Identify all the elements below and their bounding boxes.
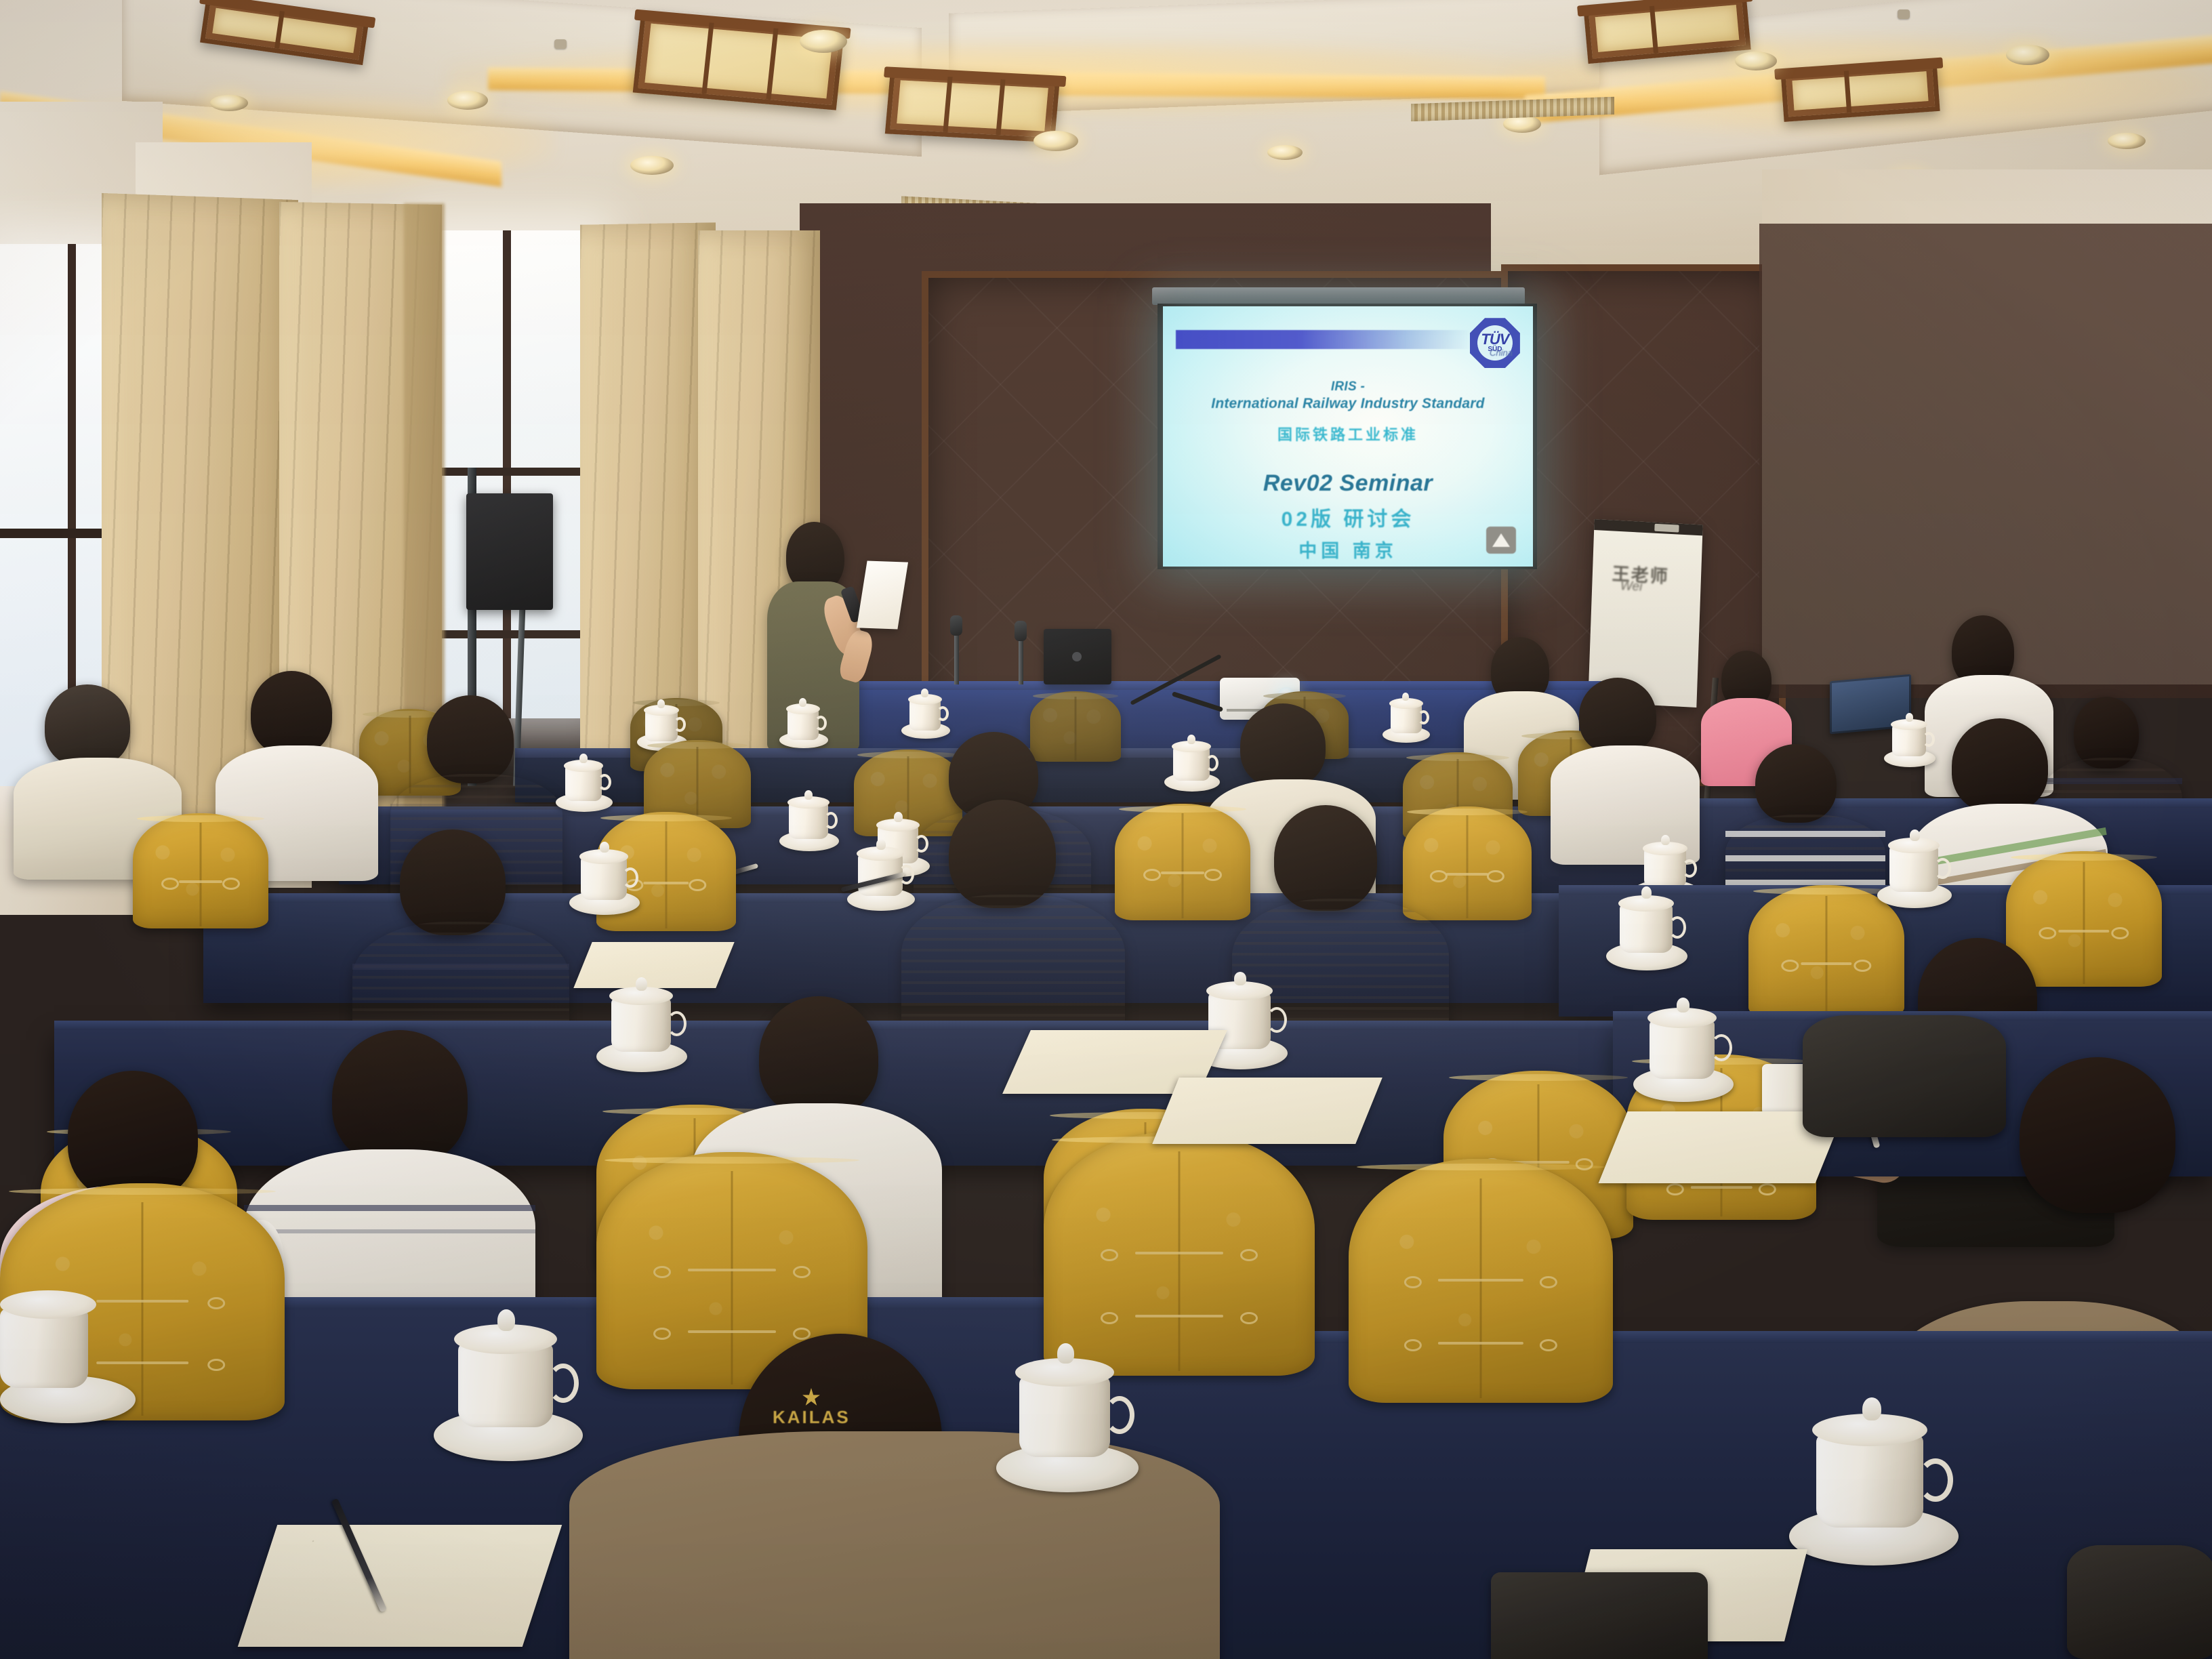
chair-cover (1349, 1159, 1613, 1403)
frog-knot (1691, 1186, 1753, 1189)
chair-seam (1075, 697, 1077, 760)
wooden-lantern-light (885, 69, 1060, 143)
teacup-knob (600, 842, 609, 853)
shirt-stripe (244, 1229, 535, 1233)
chair-frog-button (1430, 870, 1504, 878)
shirt-stripe (2040, 778, 2182, 784)
frog-knot (2059, 930, 2110, 933)
attendee-head (1755, 744, 1837, 823)
frog-knot (1135, 1315, 1223, 1317)
teacup (1816, 1433, 1923, 1528)
chair-cover (1044, 1132, 1315, 1376)
shirt-stripe (390, 804, 562, 810)
chair-frog-button (653, 1266, 811, 1274)
chair-seam (731, 1171, 733, 1385)
notepad (1152, 1078, 1382, 1144)
kailas-brand-text: KAILAS (773, 1407, 851, 1428)
teacup-knob (1661, 835, 1670, 845)
tuv-logo-caption: China (1490, 348, 1513, 358)
attendee-head (68, 1071, 198, 1201)
slide-body: IRIS - International Railway Industry St… (1163, 380, 1533, 562)
microphone-head (1015, 621, 1027, 641)
attendee-head (1274, 805, 1377, 911)
teacup-handle (1918, 1458, 1953, 1502)
frog-knot (1438, 1279, 1524, 1282)
slide-title-cn: 国际铁路工业标准 (1163, 423, 1533, 445)
slide-subtitle-cn: 02版 研讨会 (1163, 502, 1533, 532)
screen-roller-housing (1152, 287, 1525, 305)
teacup-knob (876, 839, 886, 850)
chair-seam (2083, 862, 2085, 984)
shirt-stripe (244, 1205, 535, 1211)
teacup-knob (804, 790, 813, 800)
notepad (573, 942, 734, 988)
tuv-sud-logo: TÜV SÜD (1470, 318, 1520, 368)
recessed-downlight (630, 156, 674, 175)
chair-frog-button (653, 1328, 811, 1336)
teacup-knob (1057, 1343, 1074, 1364)
attendee-head (45, 684, 130, 767)
teacup-handle (1711, 1034, 1732, 1061)
slide-title-en-line1: IRIS - (1163, 380, 1533, 394)
teacup-knob (1910, 829, 1920, 841)
chair-frog-button (1781, 960, 1871, 968)
teacup-handle (598, 774, 611, 790)
slide-location-cn: 中国 南京 (1163, 536, 1533, 562)
chair-seam (665, 821, 668, 928)
chair-seam (1826, 896, 1828, 1015)
chair-seam (1182, 813, 1184, 918)
frog-knot (1801, 962, 1852, 965)
chair-cover (2006, 851, 2162, 987)
teacup-handle (815, 716, 827, 731)
shirt-stripe (352, 964, 569, 970)
teacup-handle (1668, 916, 1686, 939)
window-mullion (0, 529, 115, 538)
attendee-head (427, 695, 514, 783)
teacup-lid (0, 1290, 96, 1319)
chair-cover (133, 813, 268, 928)
chair-frog-button (1143, 869, 1222, 877)
conference-room-photo: TÜV SÜD China IRIS - International Railw… (0, 0, 2212, 1659)
teacup-handle (667, 1011, 687, 1036)
recessed-downlight (2108, 133, 2146, 149)
chair-seam (1467, 815, 1469, 918)
notepad-logo: · (310, 1537, 316, 1545)
recessed-downlight (210, 95, 248, 111)
attendee-head (400, 829, 506, 935)
teacup-handle (1267, 1007, 1287, 1033)
teacup-knob (1677, 998, 1689, 1012)
teacup-knob (1234, 972, 1246, 985)
teacup (611, 998, 671, 1052)
chair-seam (142, 1202, 144, 1416)
slide-subtitle-en: Rev02 Seminar (1163, 470, 1533, 497)
attendee-head (251, 671, 332, 755)
flipchart-handwriting-line2: Wei (1620, 579, 1643, 595)
chair-frog-button (1101, 1312, 1258, 1320)
frog-knot (1438, 1342, 1524, 1345)
frog-knot (688, 1330, 776, 1333)
teacup-handle (1923, 732, 1935, 747)
attendee-head (1240, 703, 1326, 787)
attendee-head (2020, 1057, 2175, 1213)
attendee-head (1579, 678, 1656, 754)
teacup-handle (1418, 710, 1429, 724)
projection-screen: TÜV SÜD China IRIS - International Railw… (1163, 306, 1533, 567)
teacup (1650, 1019, 1715, 1079)
shoulder-bag (1803, 1015, 2006, 1137)
teacup-handle (824, 812, 838, 829)
chair-cover (1030, 691, 1121, 762)
teacup-handle (1682, 859, 1697, 878)
teacup-handle (622, 867, 638, 888)
laptop-logo (1072, 652, 1082, 661)
teacup-knob (799, 698, 806, 707)
teacup-knob (1402, 693, 1409, 701)
shirt-stripe (1725, 831, 1885, 837)
recessed-downlight (2006, 45, 2049, 65)
chair-frog-button (1404, 1339, 1557, 1347)
chair-cover (1403, 806, 1532, 920)
teacup-handle (914, 835, 928, 853)
teacup (458, 1342, 553, 1427)
teacup-knob (657, 699, 665, 708)
notepad: · (238, 1525, 562, 1647)
window-mullion (427, 630, 596, 638)
lantern-pane (897, 80, 1048, 131)
teacup-handle (674, 717, 686, 732)
chair-seam (1480, 1179, 1482, 1398)
teacup-knob (579, 754, 588, 763)
attendee-head (332, 1030, 468, 1166)
chair-seam (200, 823, 202, 926)
triangle-glyph (1492, 533, 1510, 547)
tuv-mark: TÜV (1481, 333, 1509, 346)
teacup-handle (1105, 1396, 1134, 1434)
chair-cover (1748, 885, 1904, 1018)
frog-knot (179, 880, 223, 883)
chair-frog-button (1666, 1183, 1776, 1191)
chair-frog-button (1101, 1249, 1258, 1257)
mountain-triangle-icon (1486, 527, 1516, 554)
frog-knot (688, 1269, 776, 1271)
sprinkler-head (554, 39, 567, 49)
pa-speaker (466, 493, 553, 610)
recessed-downlight (800, 30, 847, 53)
microphone-stand (954, 632, 959, 684)
teacup (1019, 1376, 1110, 1457)
teacup (0, 1308, 88, 1388)
frog-knot (96, 1361, 188, 1364)
chair-seam (1179, 1151, 1181, 1371)
teacup-knob (636, 977, 647, 991)
recessed-downlight (1033, 131, 1078, 151)
wooden-lantern-light (1780, 60, 1940, 122)
teacup-knob (497, 1309, 515, 1331)
teacup-knob (894, 812, 903, 822)
frog-knot (644, 882, 689, 884)
chair-frog-button (2039, 927, 2129, 935)
teacup-knob (921, 689, 928, 697)
frog-knot (96, 1300, 188, 1303)
frog-knot (1135, 1252, 1223, 1254)
teacup-handle (1206, 755, 1218, 771)
attendee-head (1952, 718, 2048, 813)
chair-frog-button (161, 878, 240, 886)
teacup-knob (1187, 735, 1195, 744)
chair-seam (409, 716, 411, 794)
shoulder-bag (2067, 1545, 2212, 1659)
teacup-handle (937, 706, 949, 721)
chair-frog-button (1404, 1276, 1557, 1284)
teacup-knob (1906, 713, 1913, 722)
sprinkler-head (1898, 9, 1910, 19)
slide-title-en-line2: International Railway Industry Standard (1163, 396, 1533, 412)
microphone-stand (1019, 637, 1023, 684)
recessed-downlight (1267, 145, 1303, 160)
attendee-head (949, 800, 1056, 908)
teacup-handle (548, 1364, 579, 1403)
window-mullion (427, 468, 596, 476)
laptop[interactable] (1044, 629, 1111, 684)
teacup-knob (1862, 1397, 1881, 1420)
notebook-case (1491, 1572, 1708, 1659)
microphone-head (950, 615, 962, 636)
shirt-stripe (1725, 855, 1885, 861)
recessed-downlight (447, 91, 488, 110)
flipchart-clip (1654, 524, 1679, 533)
frog-knot (1161, 872, 1205, 874)
teacup-handle (1934, 858, 1951, 879)
frog-knot (1446, 873, 1488, 876)
slide-header-bar (1176, 330, 1472, 350)
teacup-knob (1641, 886, 1652, 899)
attendee-head (759, 996, 878, 1117)
recessed-downlight (1735, 52, 1777, 70)
chair-cover (1115, 804, 1250, 920)
